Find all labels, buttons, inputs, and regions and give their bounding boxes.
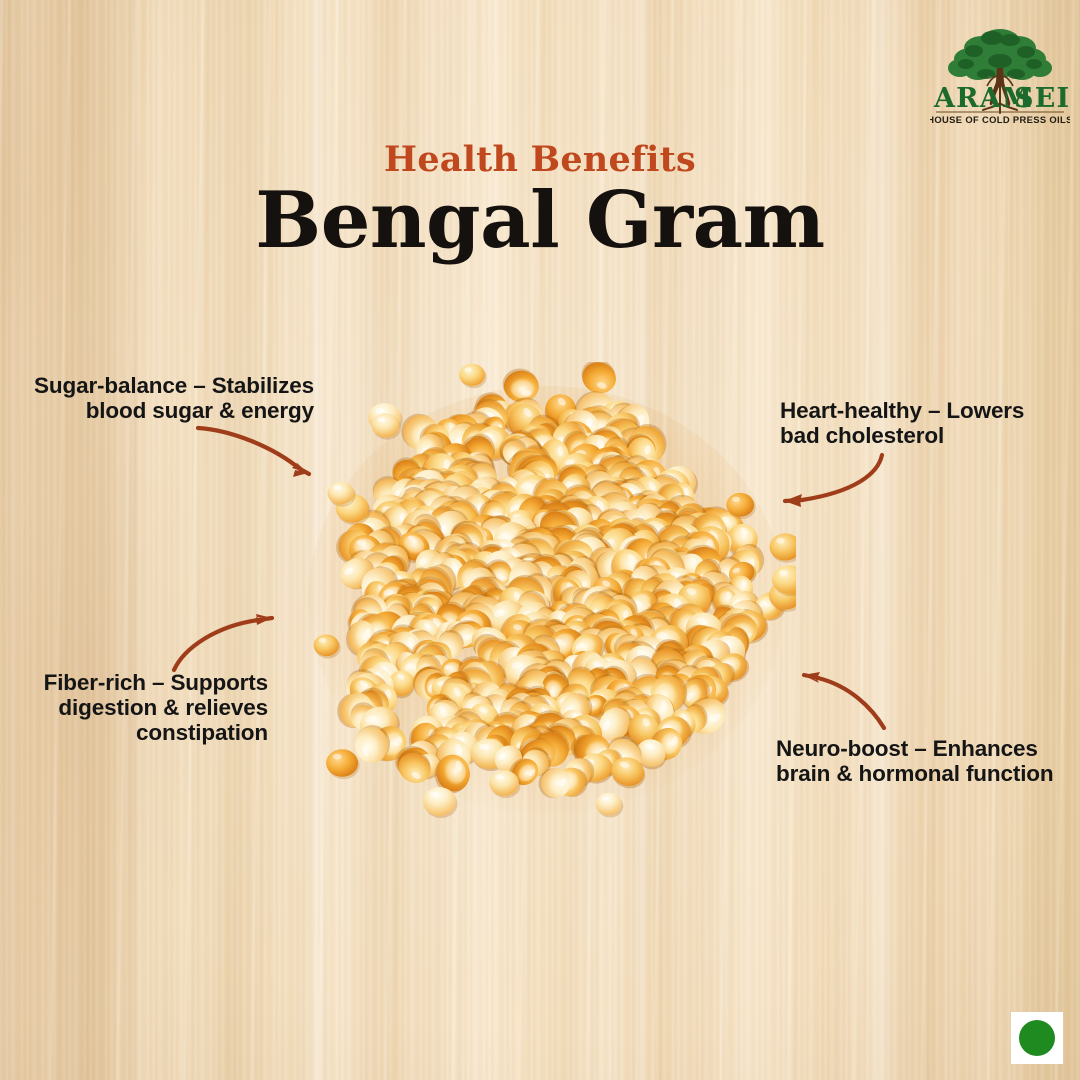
curved-arrow-left-icon	[778, 452, 890, 514]
gram-seed	[596, 793, 622, 815]
brand-logo: ARAM SEI HOUSE OF COLD PRESS OILS	[930, 16, 1070, 126]
gram-seed	[459, 364, 485, 386]
curved-arrow-up-left-icon	[798, 666, 894, 732]
gram-seed	[489, 770, 519, 795]
curved-arrow-up-right-icon	[172, 612, 282, 674]
gram-seed	[328, 482, 355, 505]
gram-seed	[423, 787, 456, 816]
gram-seed	[372, 413, 400, 437]
benefit-label-heart-healthy: Heart-healthy – Lowers bad cholesterol	[780, 398, 1080, 448]
logo-tagline: HOUSE OF COLD PRESS OILS	[930, 114, 1070, 125]
benefit-label-fiber-rich: Fiber-rich – Supports digestion & reliev…	[20, 670, 268, 745]
logo-word-right: SEI	[1014, 83, 1070, 114]
gram-seed	[326, 749, 358, 777]
benefit-label-neuro-boost: Neuro-boost – Enhances brain & hormonal …	[776, 736, 1076, 786]
gram-seed	[726, 493, 754, 517]
page-title: Bengal Gram	[0, 179, 1080, 263]
curved-arrow-right-icon	[196, 424, 320, 486]
bengal-gram-image	[296, 362, 796, 820]
gram-seed	[314, 634, 339, 656]
green-dot-icon	[1019, 1020, 1055, 1056]
benefit-label-sugar-balance: Sugar-balance – Stabilizes blood sugar &…	[20, 373, 314, 423]
kicker-heading: Health Benefits	[0, 139, 1080, 180]
veg-mark	[1011, 1012, 1063, 1064]
poster-canvas: ARAM SEI HOUSE OF COLD PRESS OILS Health…	[0, 0, 1080, 1080]
